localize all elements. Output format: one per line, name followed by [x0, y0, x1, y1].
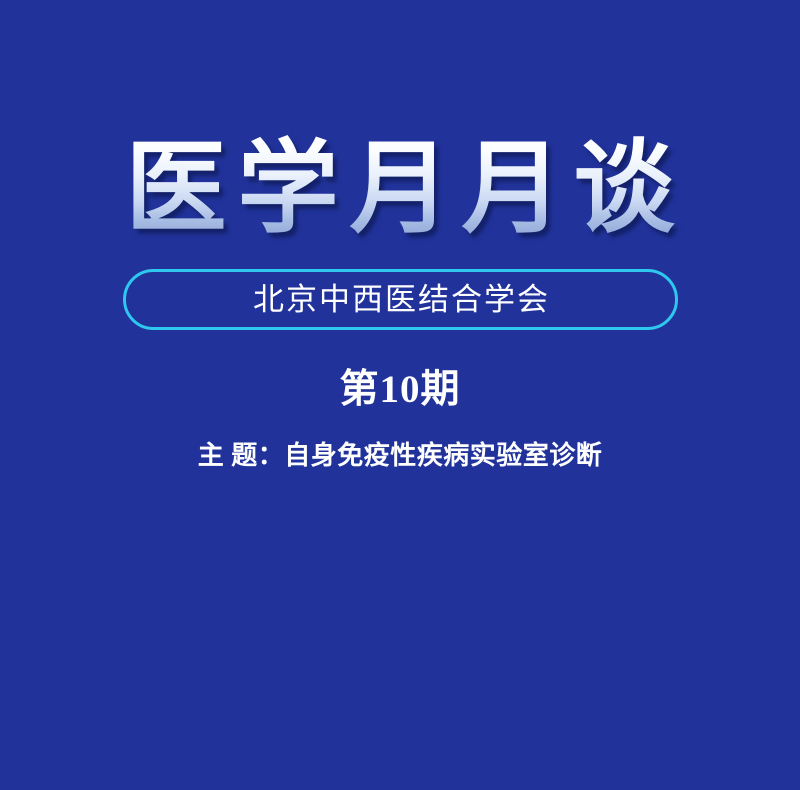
main-title-container: 医学月月谈	[0, 133, 800, 245]
poster-slide: 医学月月谈 北京中西医结合学会 第10期 主 题：自身免疫性疾病实验室诊断	[0, 0, 800, 790]
theme-subtitle: 主 题：自身免疫性疾病实验室诊断	[0, 441, 800, 471]
organization-name: 北京中西医结合学会	[251, 284, 550, 315]
page-title: 医学月月谈	[114, 133, 685, 245]
episode-number: 第10期	[0, 368, 800, 412]
organization-badge: 北京中西医结合学会	[123, 269, 678, 330]
